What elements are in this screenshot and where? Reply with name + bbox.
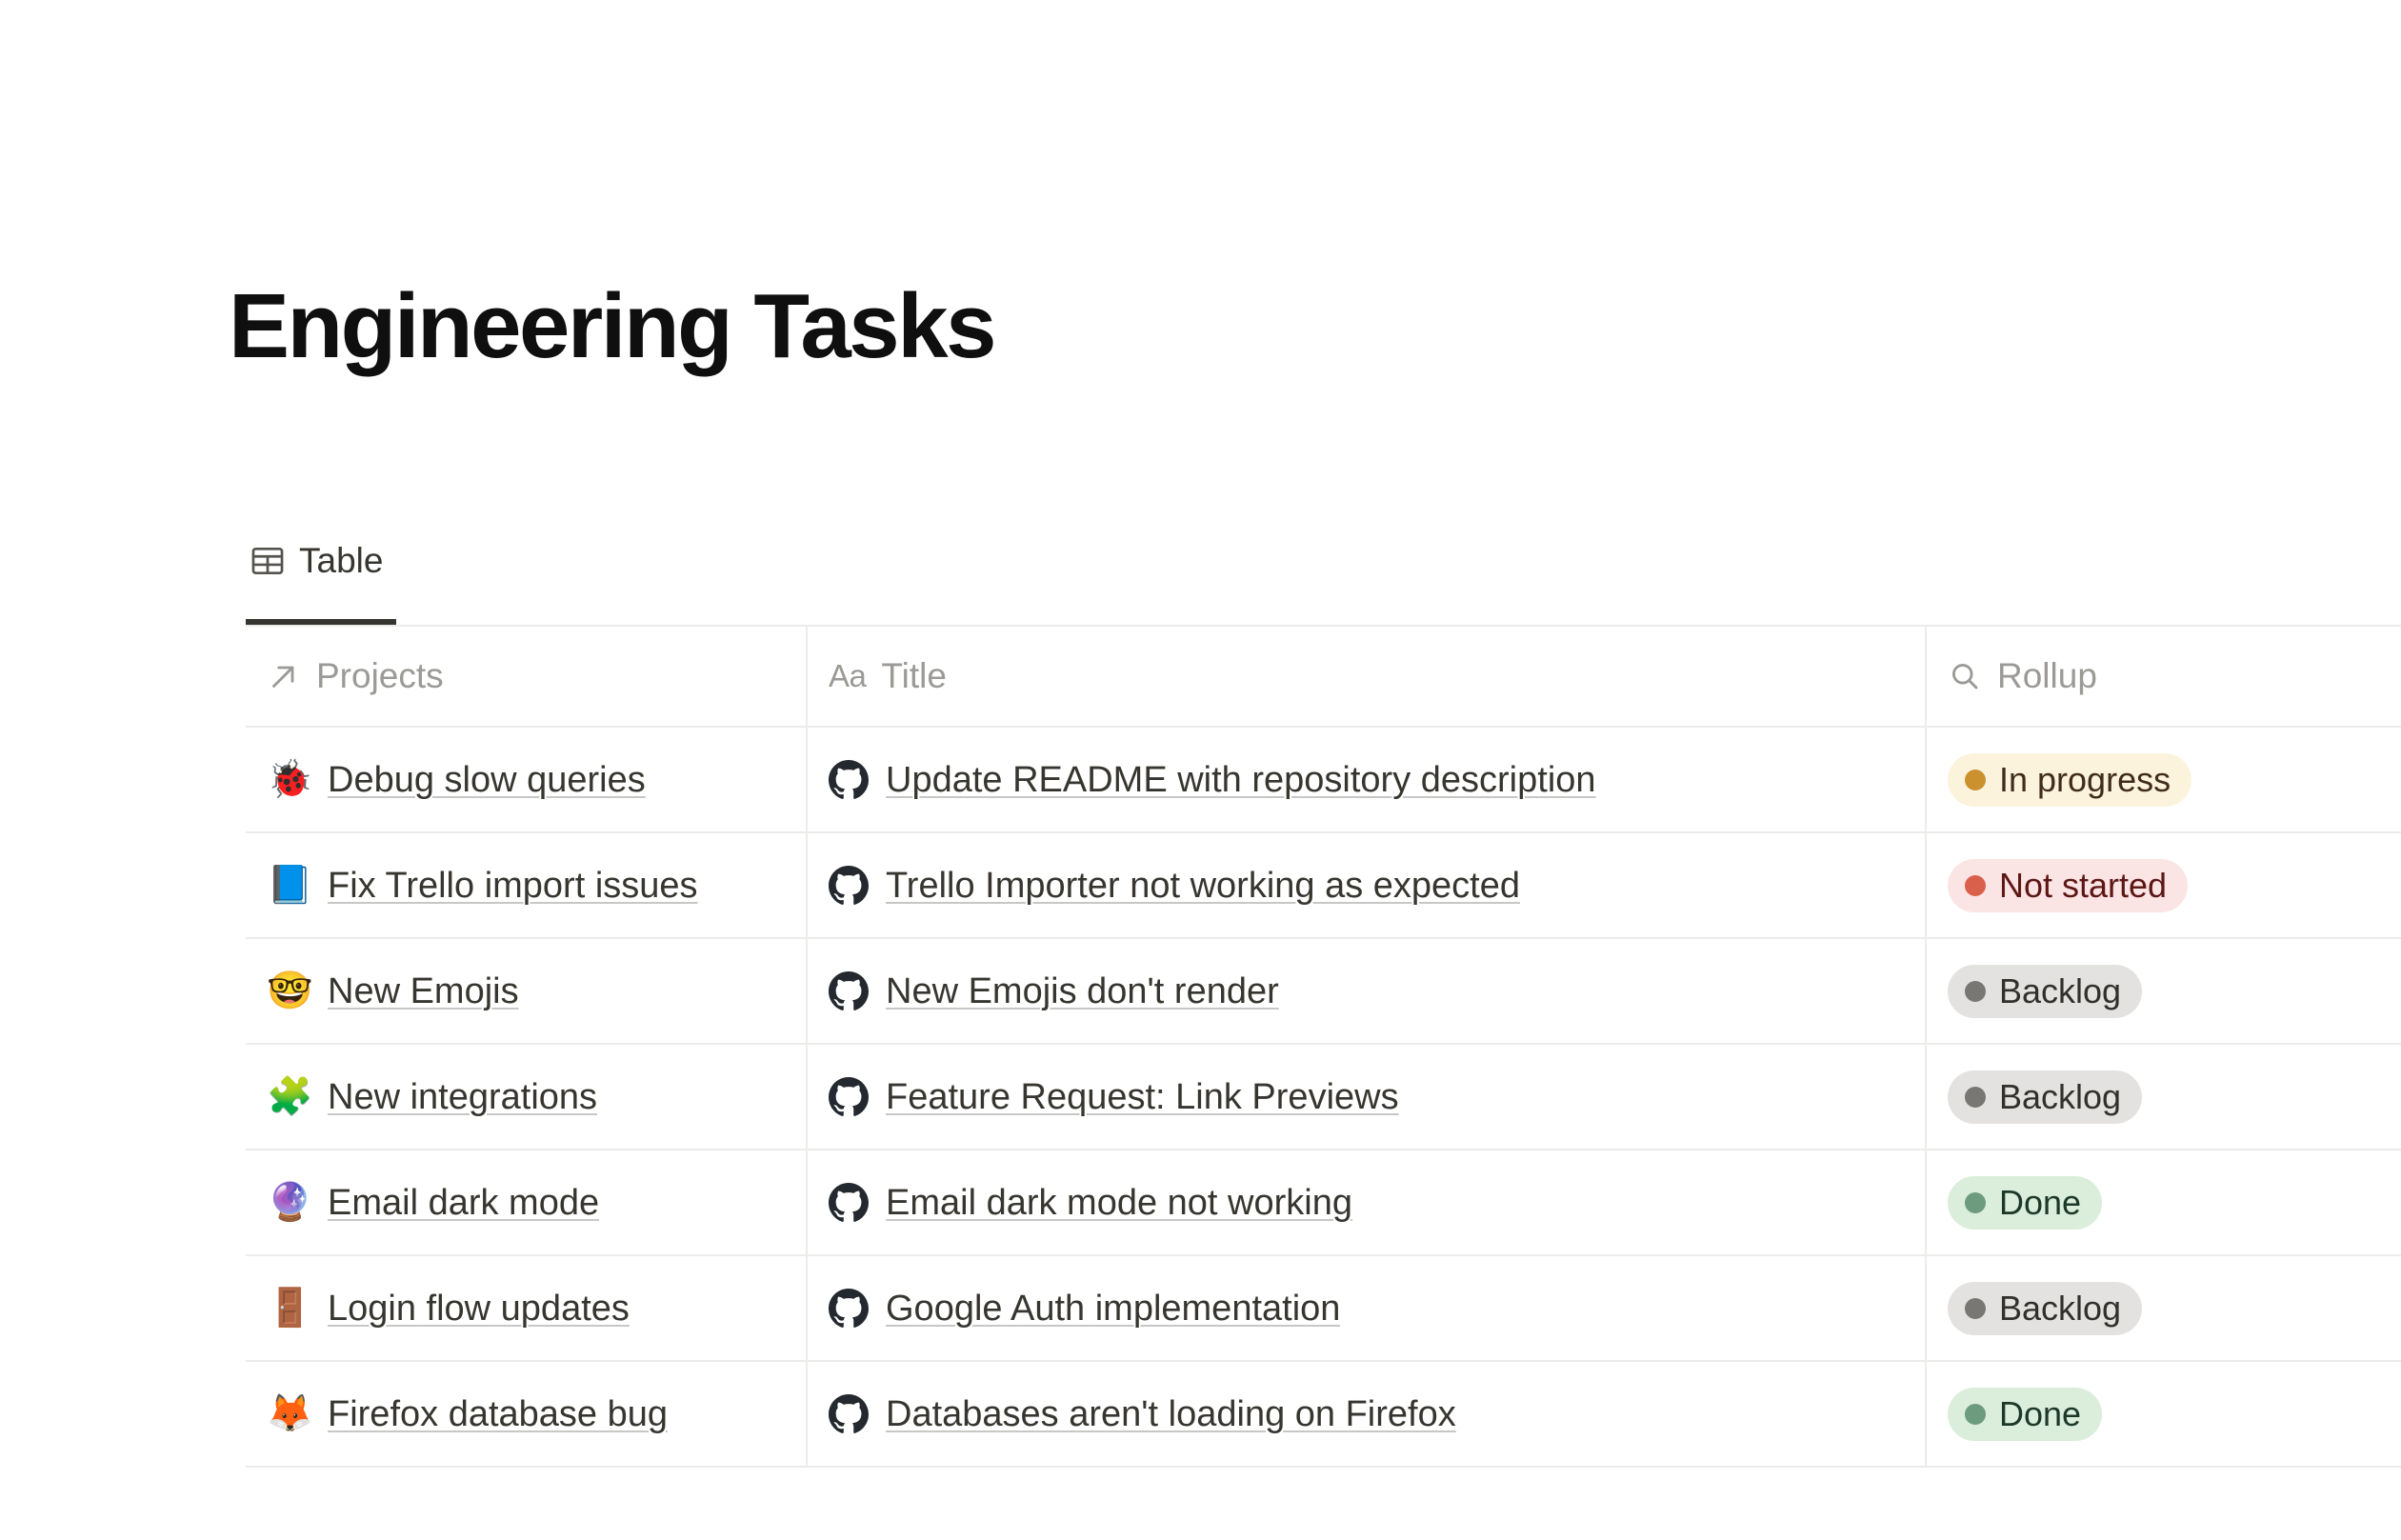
table-row[interactable]: 🦊 Firefox database bug Databases aren't … [246, 1362, 2401, 1468]
github-icon [829, 1183, 869, 1223]
cell-title[interactable]: Google Auth implementation [808, 1256, 1927, 1360]
table-row[interactable]: 🔮 Email dark mode Email dark mode not wo… [246, 1150, 2401, 1256]
project-link[interactable]: Login flow updates [328, 1287, 630, 1330]
github-icon [829, 1394, 869, 1434]
column-header-projects[interactable]: Projects [246, 627, 808, 726]
tab-table-label: Table [299, 540, 383, 582]
relation-arrow-icon [267, 659, 301, 693]
status-dot-icon [1965, 1087, 1986, 1108]
status-dot-icon [1965, 770, 1986, 790]
fox-emoji: 🦊 [267, 1393, 310, 1435]
cell-projects[interactable]: 🦊 Firefox database bug [246, 1362, 808, 1466]
cell-projects[interactable]: 🤓 New Emojis [246, 939, 808, 1043]
status-dot-icon [1965, 981, 1986, 1002]
status-dot-icon [1965, 1298, 1986, 1319]
column-header-title-label: Title [881, 655, 947, 697]
cell-projects[interactable]: 🐞 Debug slow queries [246, 728, 808, 831]
project-link[interactable]: Email dark mode [328, 1181, 599, 1225]
door-emoji: 🚪 [267, 1288, 310, 1330]
database-table: Projects Aa Title Rollup 🐞 Debug [246, 625, 2401, 1468]
title-link[interactable]: Google Auth implementation [886, 1287, 1340, 1330]
crystal-ball-emoji: 🔮 [267, 1182, 310, 1224]
github-icon [829, 1077, 869, 1117]
column-header-title[interactable]: Aa Title [808, 627, 1927, 726]
column-header-projects-label: Projects [316, 655, 444, 697]
cell-title[interactable]: Feature Request: Link Previews [808, 1045, 1927, 1149]
table-icon [250, 543, 286, 579]
cell-projects[interactable]: 📘 Fix Trello import issues [246, 833, 808, 937]
table-header-row: Projects Aa Title Rollup [246, 627, 2401, 728]
status-badge: Done [1948, 1388, 2102, 1441]
title-link[interactable]: Feature Request: Link Previews [886, 1075, 1399, 1119]
github-icon [829, 760, 869, 800]
column-header-rollup[interactable]: Rollup [1927, 627, 2401, 726]
status-dot-icon [1965, 1192, 1986, 1213]
title-link[interactable]: Trello Importer not working as expected [886, 864, 1520, 908]
lady-beetle-emoji: 🐞 [267, 759, 310, 801]
github-icon [829, 1289, 869, 1329]
tab-table[interactable]: Table [246, 522, 396, 625]
project-link[interactable]: Firefox database bug [328, 1392, 668, 1436]
table-row[interactable]: 🐞 Debug slow queries Update README with … [246, 728, 2401, 833]
title-link[interactable]: Update README with repository descriptio… [886, 758, 1596, 802]
status-badge: Not started [1948, 859, 2188, 912]
cell-title[interactable]: Trello Importer not working as expected [808, 833, 1927, 937]
status-badge-label: Not started [1999, 867, 2167, 905]
status-dot-icon [1965, 1404, 1986, 1425]
cell-projects[interactable]: 🧩 New integrations [246, 1045, 808, 1149]
github-icon [829, 971, 869, 1011]
status-badge-label: Done [1999, 1184, 2081, 1222]
title-link[interactable]: Email dark mode not working [886, 1181, 1352, 1225]
project-link[interactable]: New Emojis [328, 970, 519, 1013]
cell-rollup[interactable]: Backlog [1927, 1045, 2401, 1149]
table-row[interactable]: 📘 Fix Trello import issues Trello Import… [246, 833, 2401, 939]
cell-rollup[interactable]: Backlog [1927, 939, 2401, 1043]
table-row[interactable]: 🚪 Login flow updates Google Auth impleme… [246, 1256, 2401, 1362]
cell-title[interactable]: Databases aren't loading on Firefox [808, 1362, 1927, 1466]
cell-projects[interactable]: 🔮 Email dark mode [246, 1150, 808, 1254]
table-row[interactable]: 🧩 New integrations Feature Request: Link… [246, 1045, 2401, 1150]
column-header-rollup-label: Rollup [1997, 655, 2097, 697]
status-badge: Backlog [1948, 1070, 2142, 1124]
cell-title[interactable]: New Emojis don't render [808, 939, 1927, 1043]
cell-projects[interactable]: 🚪 Login flow updates [246, 1256, 808, 1360]
status-badge: In progress [1948, 753, 2191, 807]
status-badge-label: In progress [1999, 761, 2171, 799]
cell-rollup[interactable]: Done [1927, 1150, 2401, 1254]
title-link[interactable]: New Emojis don't render [886, 970, 1279, 1013]
status-badge-label: Backlog [1999, 972, 2121, 1010]
status-badge: Backlog [1948, 1282, 2142, 1335]
status-badge-label: Done [1999, 1395, 2081, 1433]
project-link[interactable]: Debug slow queries [328, 758, 646, 802]
view-tab-bar: Table [246, 522, 396, 625]
cell-title[interactable]: Update README with repository descriptio… [808, 728, 1927, 831]
status-badge: Backlog [1948, 965, 2142, 1018]
status-badge-label: Backlog [1999, 1290, 2121, 1328]
search-icon [1948, 659, 1982, 693]
project-link[interactable]: Fix Trello import issues [328, 864, 698, 908]
status-badge-label: Backlog [1999, 1078, 2121, 1116]
blue-book-emoji: 📘 [267, 865, 310, 907]
title-link[interactable]: Databases aren't loading on Firefox [886, 1392, 1456, 1436]
cell-rollup[interactable]: Backlog [1927, 1256, 2401, 1360]
aa-text-icon: Aa [829, 659, 866, 693]
project-link[interactable]: New integrations [328, 1075, 597, 1119]
status-badge: Done [1948, 1176, 2102, 1230]
status-dot-icon [1965, 875, 1986, 896]
github-icon [829, 866, 869, 906]
cell-title[interactable]: Email dark mode not working [808, 1150, 1927, 1254]
notion-database-page: Engineering Tasks Table [0, 0, 2401, 1540]
page-title: Engineering Tasks [229, 274, 994, 379]
cell-rollup[interactable]: Not started [1927, 833, 2401, 937]
cell-rollup[interactable]: Done [1927, 1362, 2401, 1466]
table-row[interactable]: 🤓 New Emojis New Emojis don't render Bac… [246, 939, 2401, 1045]
cell-rollup[interactable]: In progress [1927, 728, 2401, 831]
puzzle-piece-emoji: 🧩 [267, 1076, 310, 1118]
nerd-face-emoji: 🤓 [267, 970, 310, 1012]
